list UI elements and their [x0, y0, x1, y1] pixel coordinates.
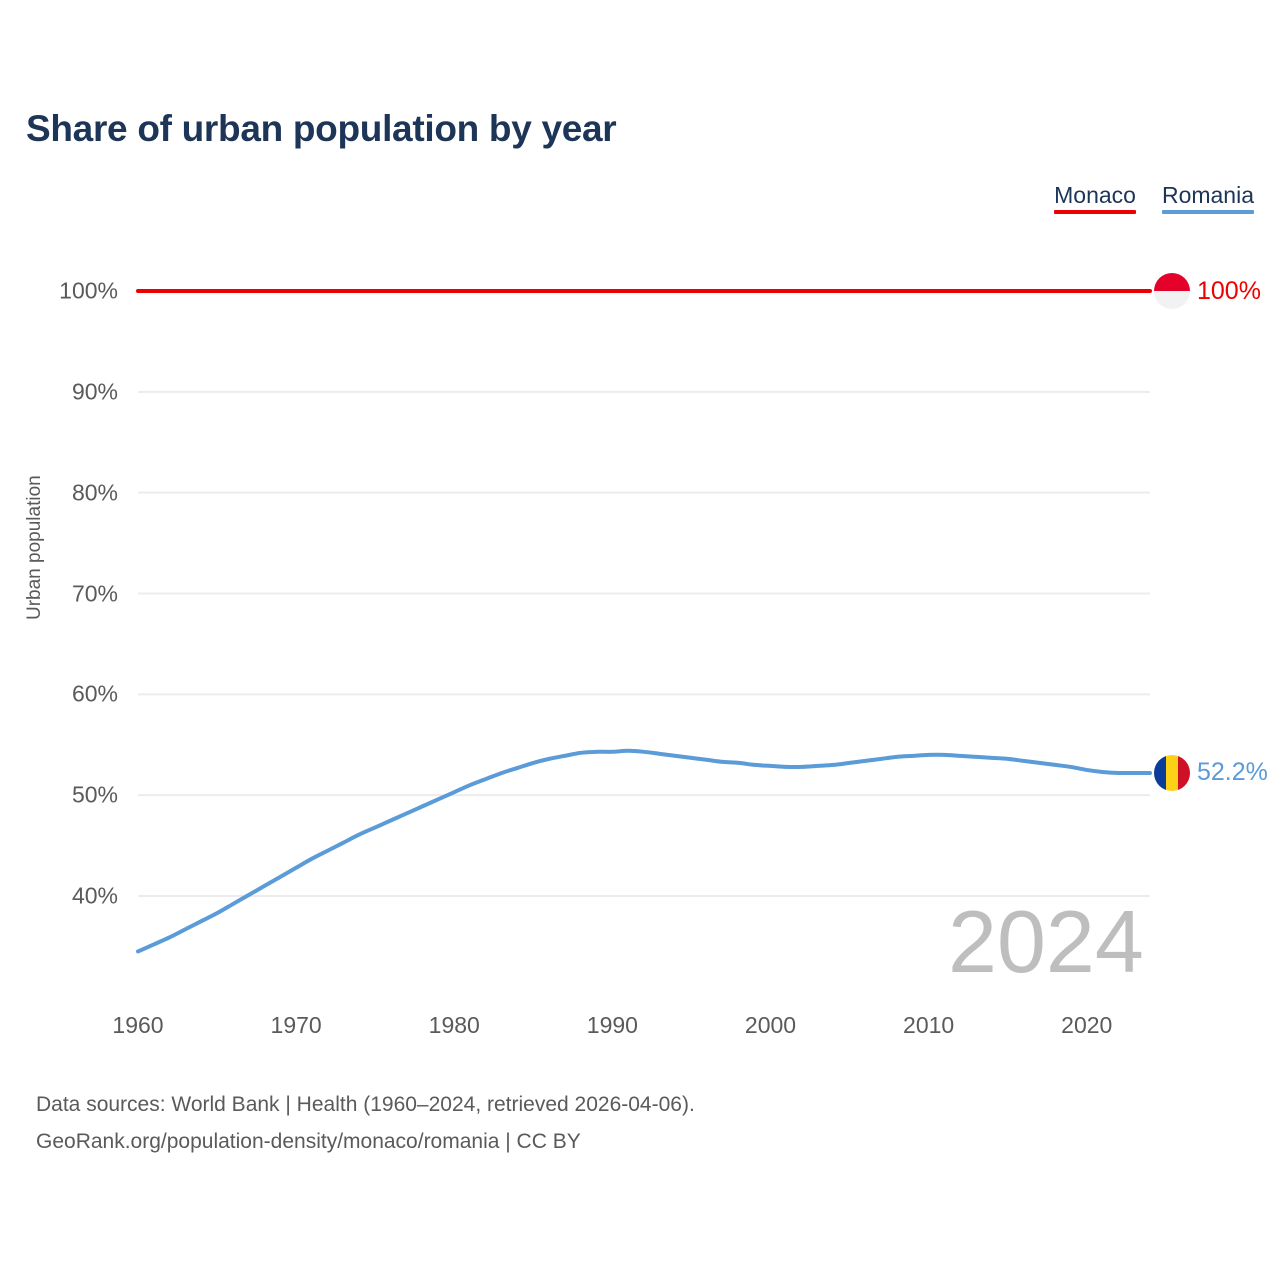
legend-label-monaco: Monaco: [1054, 183, 1136, 207]
y-tick-label: 70%: [72, 580, 118, 607]
romania-flag-icon: [1154, 755, 1190, 791]
legend-item-romania[interactable]: Romania: [1162, 183, 1254, 214]
y-tick-label: 80%: [72, 479, 118, 506]
y-tick-label: 50%: [72, 782, 118, 809]
footer-data-sources: Data sources: World Bank | Health (1960–…: [36, 1087, 695, 1124]
chart-page: Share of urban population by year Monaco…: [0, 0, 1280, 1280]
legend-item-monaco[interactable]: Monaco: [1054, 183, 1136, 214]
monaco-flag-icon: [1154, 273, 1190, 309]
footer: Data sources: World Bank | Health (1960–…: [36, 1087, 695, 1161]
end-value-monaco: 100%: [1197, 277, 1261, 306]
x-tick-label: 1980: [429, 1012, 480, 1039]
y-axis-label: Urban population: [24, 475, 46, 620]
end-value-romania: 52.2%: [1197, 758, 1268, 787]
x-tick-label: 2020: [1061, 1012, 1112, 1039]
x-tick-label: 2010: [903, 1012, 954, 1039]
y-tick-label: 100%: [59, 278, 118, 305]
x-tick-label: 1970: [271, 1012, 322, 1039]
x-tick-label: 1960: [112, 1012, 163, 1039]
legend-color-swatch-monaco: [1054, 210, 1136, 214]
page-title: Share of urban population by year: [26, 108, 616, 150]
chart-legend: Monaco Romania: [1054, 183, 1254, 214]
chart-gridlines: [138, 392, 1150, 896]
y-tick-label: 90%: [72, 378, 118, 405]
legend-label-romania: Romania: [1162, 183, 1254, 207]
end-marker-monaco: 100%: [1154, 273, 1261, 309]
x-tick-label: 2000: [745, 1012, 796, 1039]
footer-attribution: GeoRank.org/population-density/monaco/ro…: [36, 1124, 695, 1161]
year-watermark: 2024: [948, 898, 1144, 986]
y-tick-label: 40%: [72, 883, 118, 910]
y-tick-label: 60%: [72, 681, 118, 708]
chart-series-lines: [138, 291, 1150, 951]
end-marker-romania: 52.2%: [1154, 755, 1268, 791]
x-tick-label: 1990: [587, 1012, 638, 1039]
legend-color-swatch-romania: [1162, 210, 1254, 214]
